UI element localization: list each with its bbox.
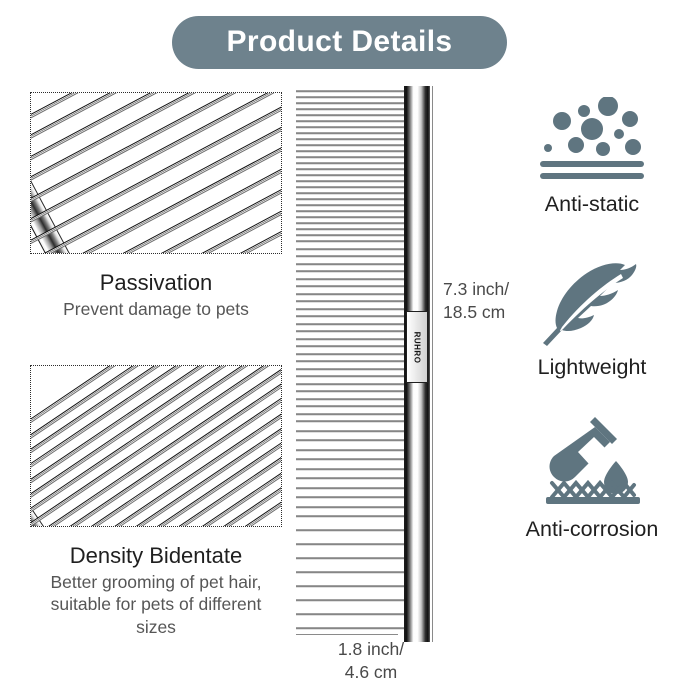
comb-tooth xyxy=(296,186,408,189)
comb-tooth xyxy=(296,496,408,499)
comb-tooth xyxy=(296,222,408,225)
comb-tooth xyxy=(296,430,408,433)
comb-tooth xyxy=(296,228,408,231)
comb-tooth xyxy=(296,468,408,471)
comb-tooth xyxy=(296,585,408,588)
comb-tooth xyxy=(296,150,408,153)
page-title: Product Details xyxy=(226,25,452,58)
comb-tooth xyxy=(296,216,408,219)
stainless-steel-pet-comb: RUHRO xyxy=(296,86,436,642)
comb-tooth xyxy=(296,323,408,326)
comb-tooth xyxy=(296,285,408,288)
width-dimension-label: 1.8 inch/ 4.6 cm xyxy=(296,638,446,684)
comb-tooth xyxy=(296,132,408,135)
comb-tooth xyxy=(296,248,408,251)
comb-tooth xyxy=(296,315,408,318)
comb-tooth xyxy=(296,338,408,341)
comb-tooth xyxy=(296,330,408,333)
comb-teeth xyxy=(296,86,408,642)
comb-tooth xyxy=(296,120,408,123)
comb-tooth xyxy=(296,515,408,518)
comb-tooth xyxy=(296,162,408,165)
comb-tooth xyxy=(296,210,408,213)
feature-label: Lightweight xyxy=(505,355,679,380)
comb-tooth xyxy=(296,234,408,237)
teeth-illustration: RUHRO xyxy=(30,365,282,527)
comb-teeth-closeup-photo xyxy=(30,92,282,254)
comb-tooth xyxy=(296,529,408,532)
comb-tooth xyxy=(296,398,408,401)
comb-tooth xyxy=(296,156,408,159)
comb-tooth xyxy=(296,383,408,386)
particles-repelled-icon xyxy=(505,92,679,188)
comb-tooth xyxy=(296,204,408,207)
comb-tooth xyxy=(296,90,408,93)
comb-tooth xyxy=(296,439,408,442)
comb-tooth xyxy=(296,293,408,296)
feature-panel-density-bidentate: RUHRO Density Bidentate Better grooming … xyxy=(30,365,282,638)
height-dimension-line1: 7.3 inch/ xyxy=(443,278,509,301)
comb-tooth xyxy=(296,255,408,258)
feature-label: Anti-corrosion xyxy=(505,517,679,542)
comb-tooth xyxy=(296,192,408,195)
comb-dual-density-teeth-photo: RUHRO xyxy=(30,365,282,527)
comb-tooth xyxy=(296,102,408,105)
comb-tooth xyxy=(296,368,408,371)
feature-panel-passivation: Passivation Prevent damage to pets xyxy=(30,92,282,321)
comb-tooth xyxy=(296,390,408,393)
comb-tooth xyxy=(296,477,408,480)
panel-title: Passivation xyxy=(30,270,282,295)
comb-tooth xyxy=(296,458,408,461)
header-pill: Product Details xyxy=(172,16,506,69)
comb-tooth xyxy=(296,180,408,183)
comb-tooth xyxy=(296,375,408,378)
comb-tooth xyxy=(296,506,408,509)
panel-description: Prevent damage to pets xyxy=(30,298,282,320)
comb-tooth xyxy=(296,96,408,99)
comb-tooth xyxy=(296,599,408,602)
left-feature-column: Passivation Prevent damage to pets xyxy=(30,92,282,638)
comb-tooth xyxy=(296,263,408,266)
comb-tooth xyxy=(296,138,408,141)
comb-tooth xyxy=(296,308,408,311)
comb-tooth xyxy=(296,613,408,616)
feature-label: Anti-static xyxy=(505,192,679,217)
right-feature-column: Anti-static Lightweight xyxy=(505,92,679,542)
comb-tooth xyxy=(296,353,408,356)
comb-tooth xyxy=(296,571,408,574)
panel-title: Density Bidentate xyxy=(30,543,282,568)
comb-tooth xyxy=(296,114,408,117)
comb-tooth xyxy=(296,108,408,111)
feature-anti-static: Anti-static xyxy=(505,92,679,217)
comb-tooth xyxy=(296,405,408,408)
comb-tooth xyxy=(296,449,408,452)
comb-tooth xyxy=(296,345,408,348)
width-dimension-line2: 4.6 cm xyxy=(296,661,446,684)
feather-icon xyxy=(505,255,679,351)
feature-anti-corrosion: Anti-corrosion xyxy=(505,417,679,542)
width-measure-line xyxy=(296,634,398,635)
comb-tooth xyxy=(296,198,408,201)
comb-tooth xyxy=(296,543,408,546)
comb-tooth xyxy=(296,240,408,243)
width-dimension-line1: 1.8 inch/ xyxy=(296,638,446,661)
comb-tooth xyxy=(296,360,408,363)
height-dimension-line2: 18.5 cm xyxy=(443,301,509,324)
comb-tooth xyxy=(296,300,408,303)
comb-tooth xyxy=(296,557,408,560)
comb-tooth xyxy=(296,627,408,630)
header-banner: Product Details xyxy=(0,16,679,69)
comb-tooth xyxy=(296,270,408,273)
comb-tooth xyxy=(296,278,408,281)
comb-tooth xyxy=(296,174,408,177)
comb-tooth xyxy=(296,420,408,423)
teeth-illustration xyxy=(30,92,282,254)
comb-tooth xyxy=(296,487,408,490)
height-dimension-label: 7.3 inch/ 18.5 cm xyxy=(443,278,509,324)
feature-lightweight: Lightweight xyxy=(505,255,679,380)
comb-tooth xyxy=(296,413,408,416)
comb-tooth xyxy=(296,144,408,147)
comb-tooth xyxy=(296,126,408,129)
comb-tooth xyxy=(296,168,408,171)
test-tube-droplet-icon xyxy=(505,417,679,513)
brand-engraving: RUHRO xyxy=(406,311,428,383)
height-measure-line xyxy=(432,86,433,642)
panel-description: Better grooming of pet hair, suitable fo… xyxy=(30,571,282,638)
